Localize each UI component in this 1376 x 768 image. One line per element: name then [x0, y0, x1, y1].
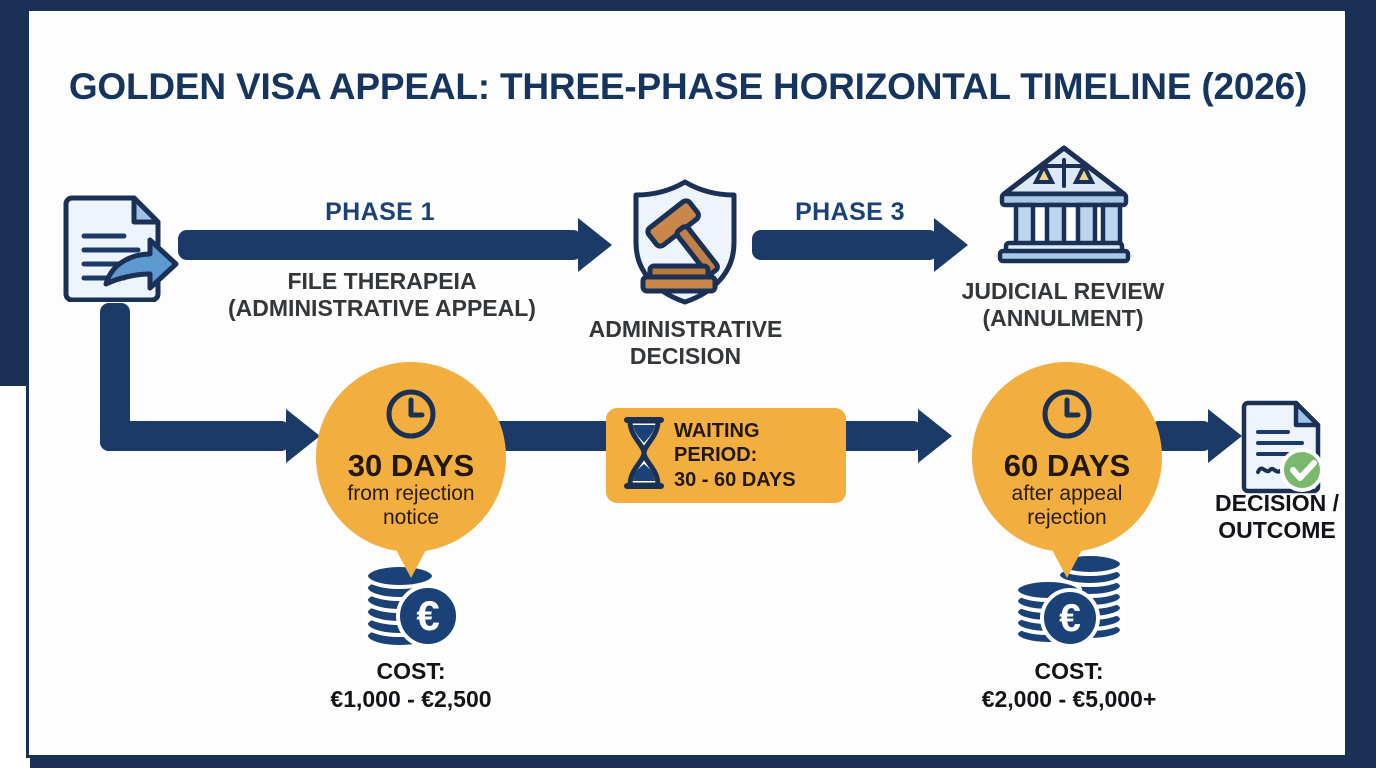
elbow-horizontal-segment	[100, 421, 290, 451]
phase-3-caption: JUDICIAL REVIEW (ANNULMENT)	[900, 278, 1226, 332]
deadline-60-sub: after appeal rejection	[972, 482, 1162, 529]
phase-1-arrow-head	[578, 218, 612, 272]
elbow-arrow-head	[286, 409, 320, 463]
cost-label-1: COST: €1,000 - €2,500	[308, 658, 514, 713]
deadline-bubble-30-days: 30 DAYS from rejection notice	[316, 362, 506, 552]
admin-decision-caption: ADMINISTRATIVE DECISION	[568, 316, 803, 370]
infographic-frame: GOLDEN VISA APPEAL: THREE-PHASE HORIZONT…	[0, 0, 1376, 768]
document-submit-icon	[62, 192, 180, 307]
phase-3-arrow-shaft	[752, 230, 938, 260]
cost-label-2: COST: €2,000 - €5,000+	[962, 658, 1176, 713]
page-title: GOLDEN VISA APPEAL: THREE-PHASE HORIZONT…	[0, 66, 1376, 108]
svg-text:€: €	[1059, 597, 1081, 640]
outcome-caption: DECISION / OUTCOME	[1182, 490, 1372, 544]
document-check-icon	[1240, 398, 1326, 499]
diagram-stage: GOLDEN VISA APPEAL: THREE-PHASE HORIZONT…	[0, 0, 1376, 768]
deadline-bubble-60-days: 60 DAYS after appeal rejection	[972, 362, 1162, 552]
bubble-tail	[394, 546, 428, 578]
deadline-60-headline: 60 DAYS	[972, 448, 1162, 484]
waiting-period-box: WAITING PERIOD: 30 - 60 DAYS	[606, 408, 846, 503]
courthouse-scales-icon	[996, 142, 1132, 269]
waiting-arrow-head	[918, 409, 952, 463]
deadline-30-headline: 30 DAYS	[316, 448, 506, 484]
phase-3-arrow-head	[934, 218, 968, 272]
phase-1-label: PHASE 1	[230, 198, 530, 227]
svg-text:€: €	[416, 592, 439, 639]
phase-1-arrow-shaft	[178, 230, 582, 260]
clock-icon	[1041, 388, 1093, 445]
bubble-tail	[1050, 546, 1084, 578]
clock-icon	[385, 388, 437, 445]
waiting-period-text: WAITING PERIOD: 30 - 60 DAYS	[674, 419, 796, 492]
outcome-arrow-head	[1208, 409, 1242, 463]
hourglass-icon	[620, 416, 668, 495]
deadline-30-sub: from rejection notice	[316, 482, 506, 529]
phase-1-caption: FILE THERAPEIA (ADMINISTRATIVE APPEAL)	[212, 268, 552, 322]
